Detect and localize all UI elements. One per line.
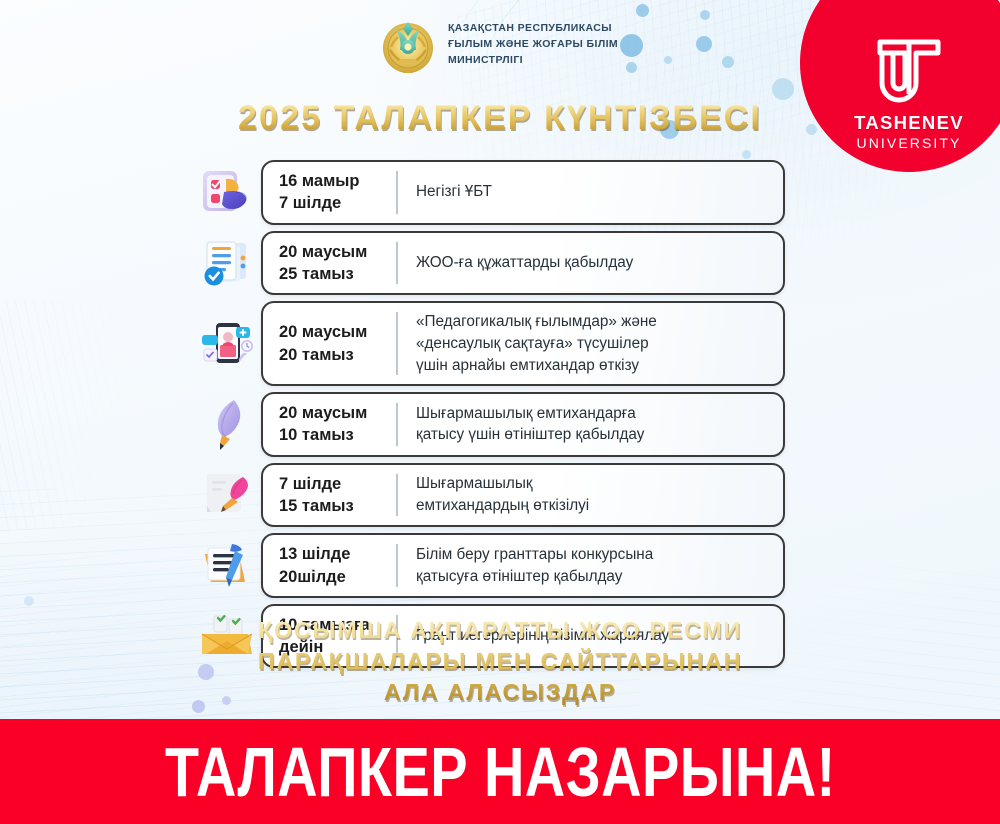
timeline-description: Шығармашылық емтихандардың өткізілуі: [398, 465, 783, 526]
logo-subtitle: UNIVERSITY: [856, 136, 961, 150]
timeline-card: 20 маусым 25 тамыз ЖОО-ға құжаттарды қаб…: [261, 231, 785, 296]
poster-canvas: ҚАЗАҚСТАН РЕСПУБЛИКАСЫ ҒЫЛЫМ ЖӘНЕ ЖОҒАРЫ…: [0, 0, 1000, 824]
timeline-description: ЖОО-ға құжаттарды қабылдау: [398, 233, 783, 294]
timeline-row: 7 шілде 15 тамыз Шығармашылық емтихандар…: [0, 463, 1000, 528]
timeline-dates: 7 шілде 15 тамыз: [263, 465, 396, 526]
timeline-card: 7 шілде 15 тамыз Шығармашылық емтихандар…: [261, 463, 785, 528]
logo-name: TASHENEV: [854, 114, 964, 133]
timeline-row: 20 маусым 25 тамыз ЖОО-ға құжаттарды қаб…: [0, 231, 1000, 296]
ministry-name: ҚАЗАҚСТАН РЕСПУБЛИКАСЫ ҒЫЛЫМ ЖӘНЕ ЖОҒАРЫ…: [448, 21, 618, 68]
timeline-card: 13 шілде 20шілде Білім беру гранттары ко…: [261, 533, 785, 598]
timeline-dates: 16 мамыр 7 шілде: [263, 162, 396, 223]
additional-info-note: ҚОСЫМША АҚПАРАТТЫ ЖОО РЕСМИ ПАРАҚШАЛАРЫ …: [0, 615, 1000, 707]
timeline-dates: 20 маусым 25 тамыз: [263, 233, 396, 294]
smartphone-medical-profile-icon: [193, 315, 261, 373]
purple-quill-pen-icon: [193, 397, 261, 451]
timeline-row: 13 шілде 20шілде Білім беру гранттары ко…: [0, 533, 1000, 598]
blue-dot-decoration: [772, 78, 794, 100]
timeline-card: 20 маусым 20 тамыз «Педагогикалық ғылымд…: [261, 301, 785, 386]
admission-calendar-timeline: 16 мамыр 7 шілде Негізгі ҰБТ: [0, 160, 1000, 674]
attention-banner-text: ТАЛАПКЕР НАЗАРЫНА!: [165, 737, 836, 807]
timeline-dates: 20 маусым 10 тамыз: [263, 394, 396, 455]
paper-pink-feather-pen-icon: [193, 470, 261, 520]
timeline-dates: 20 маусым 20 тамыз: [263, 303, 396, 384]
timeline-description: «Педагогикалық ғылымдар» және «денсаулық…: [398, 303, 783, 384]
timeline-description: Шығармашылық емтихандарға қатысу үшін өт…: [398, 394, 783, 455]
timeline-row: 20 маусым 10 тамыз Шығармашылық емтиханд…: [0, 392, 1000, 457]
timeline-row: 20 маусым 20 тамыз «Педагогикалық ғылымд…: [0, 301, 1000, 386]
timeline-description: Негізгі ҰБТ: [398, 162, 783, 223]
timeline-row: 16 мамыр 7 шілде Негізгі ҰБТ: [0, 160, 1000, 225]
attention-banner: ТАЛАПКЕР НАЗАРЫНА!: [0, 719, 1000, 824]
clipboard-checklist-hand-icon: [193, 167, 261, 217]
timeline-description: Білім беру гранттары конкурсына қатысуға…: [398, 535, 783, 596]
kazakhstan-coat-of-arms-icon: [382, 14, 434, 76]
timeline-card: 16 мамыр 7 шілде Негізгі ҰБТ: [261, 160, 785, 225]
tashenev-tu-monogram-icon: [870, 36, 948, 108]
clipboard-blue-pen-icon: [193, 540, 261, 592]
blue-dot-decoration: [742, 150, 751, 159]
timeline-dates: 13 шілде 20шілде: [263, 535, 396, 596]
documents-stack-check-icon: [193, 237, 261, 289]
timeline-card: 20 маусым 10 тамыз Шығармашылық емтиханд…: [261, 392, 785, 457]
